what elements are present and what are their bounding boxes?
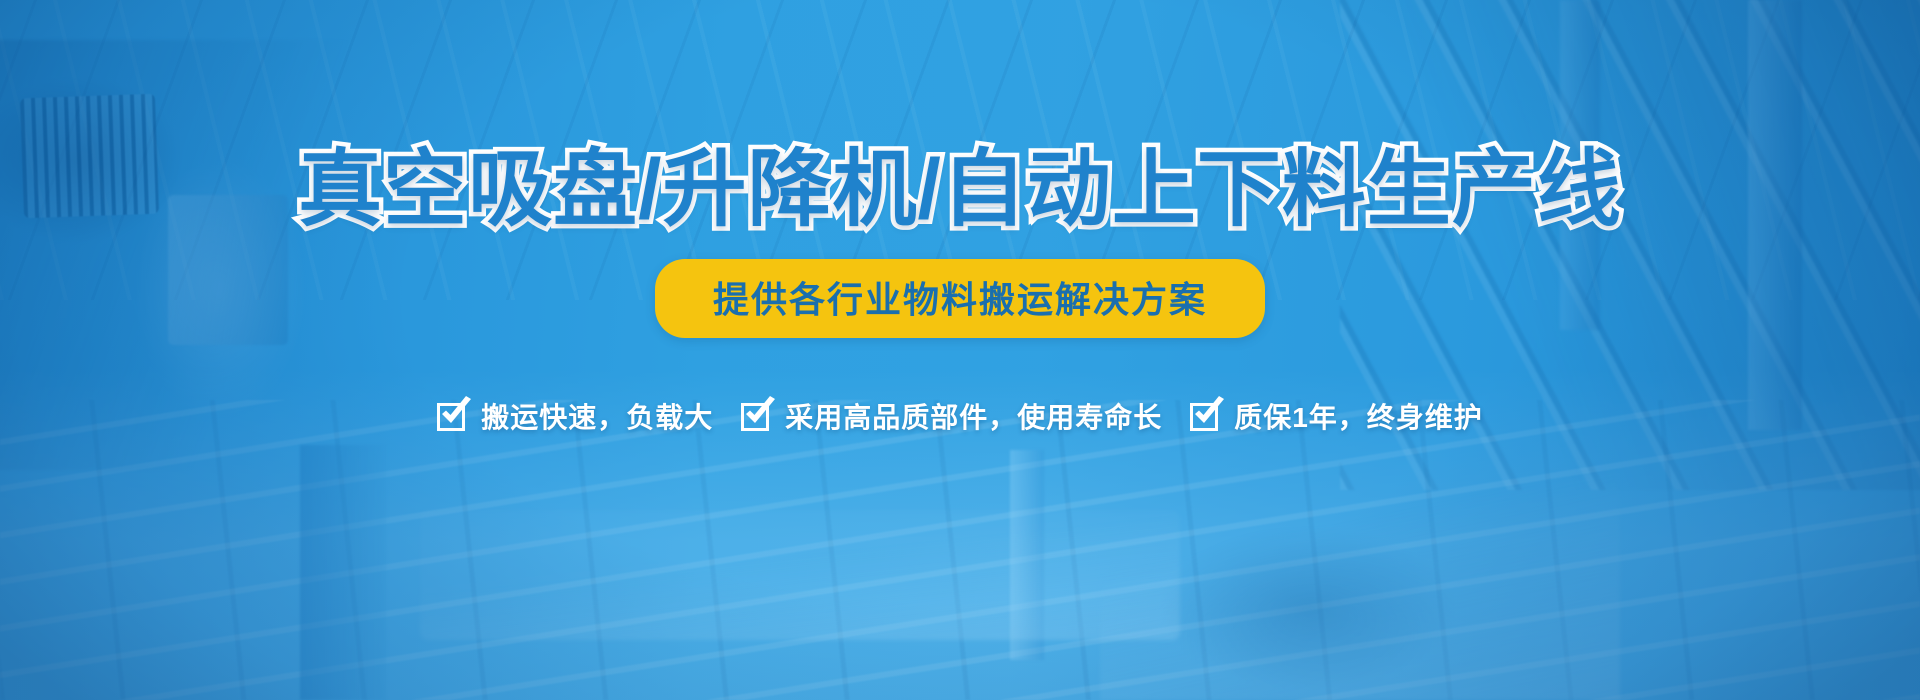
feature-item: 搬运快速，负载大 (437, 396, 713, 436)
banner-content: 真空吸盘/升降机/自动上下料生产线 提供各行业物料搬运解决方案 搬运快速，负载大 (0, 0, 1920, 700)
feature-item: 采用高品质部件，使用寿命长 (741, 396, 1162, 436)
hero-banner: 真空吸盘/升降机/自动上下料生产线 提供各行业物料搬运解决方案 搬运快速，负载大 (0, 0, 1920, 700)
check-icon (1190, 399, 1224, 433)
feature-label: 采用高品质部件，使用寿命长 (785, 396, 1162, 436)
check-icon (437, 399, 471, 433)
feature-item: 质保1年，终身维护 (1190, 396, 1483, 436)
feature-label: 质保1年，终身维护 (1234, 396, 1483, 436)
banner-feature-list: 搬运快速，负载大 采用高品质部件，使用寿命长 质保1 (437, 396, 1483, 436)
banner-headline: 真空吸盘/升降机/自动上下料生产线 (298, 147, 1622, 231)
check-icon (741, 399, 775, 433)
banner-subtitle-badge: 提供各行业物料搬运解决方案 (655, 259, 1265, 338)
feature-label: 搬运快速，负载大 (481, 396, 713, 436)
